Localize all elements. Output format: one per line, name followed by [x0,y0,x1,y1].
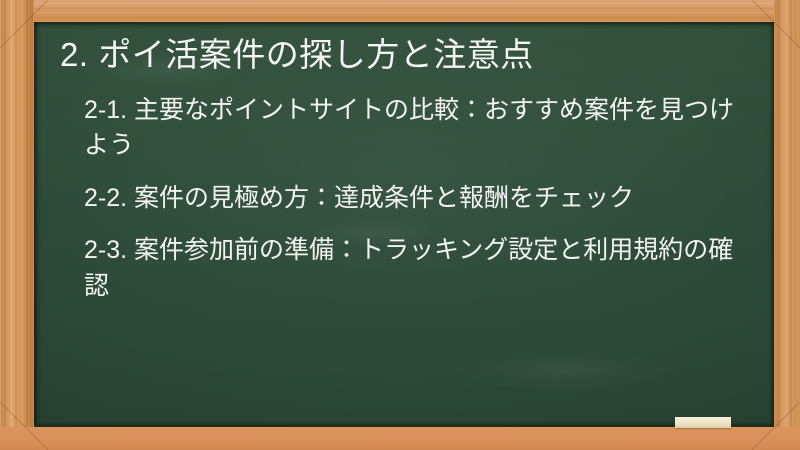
slide-item-list: 2-1. 主要なポイントサイトの比較：おすすめ案件を見つけよう 2-2. 案件の… [60,93,746,305]
chalk-stick-icon [675,417,731,428]
frame-plank-right [774,0,800,450]
frame-plank-left [0,0,34,450]
frame-plank-top [0,0,800,22]
frame-plank-bottom-ledge [0,427,800,450]
slide-title: 2. ポイ活案件の探し方と注意点 [60,36,746,75]
chalkboard-surface: 2. ポイ活案件の探し方と注意点 2-1. 主要なポイントサイトの比較：おすすめ… [34,22,774,427]
board-bottom-edge-shadow [34,425,774,427]
slide-item-2: 2-2. 案件の見極め方：達成条件と報酬をチェック [84,181,739,217]
slide-item-1: 2-1. 主要なポイントサイトの比較：おすすめ案件を見つけよう [84,93,739,164]
slide-item-3: 2-3. 案件参加前の準備：トラッキング設定と利用規約の確認 [84,233,739,304]
chalkboard-slide: 2. ポイ活案件の探し方と注意点 2-1. 主要なポイントサイトの比較：おすすめ… [0,0,800,450]
chalkboard-content: 2. ポイ活案件の探し方と注意点 2-1. 主要なポイントサイトの比較：おすすめ… [34,22,774,427]
